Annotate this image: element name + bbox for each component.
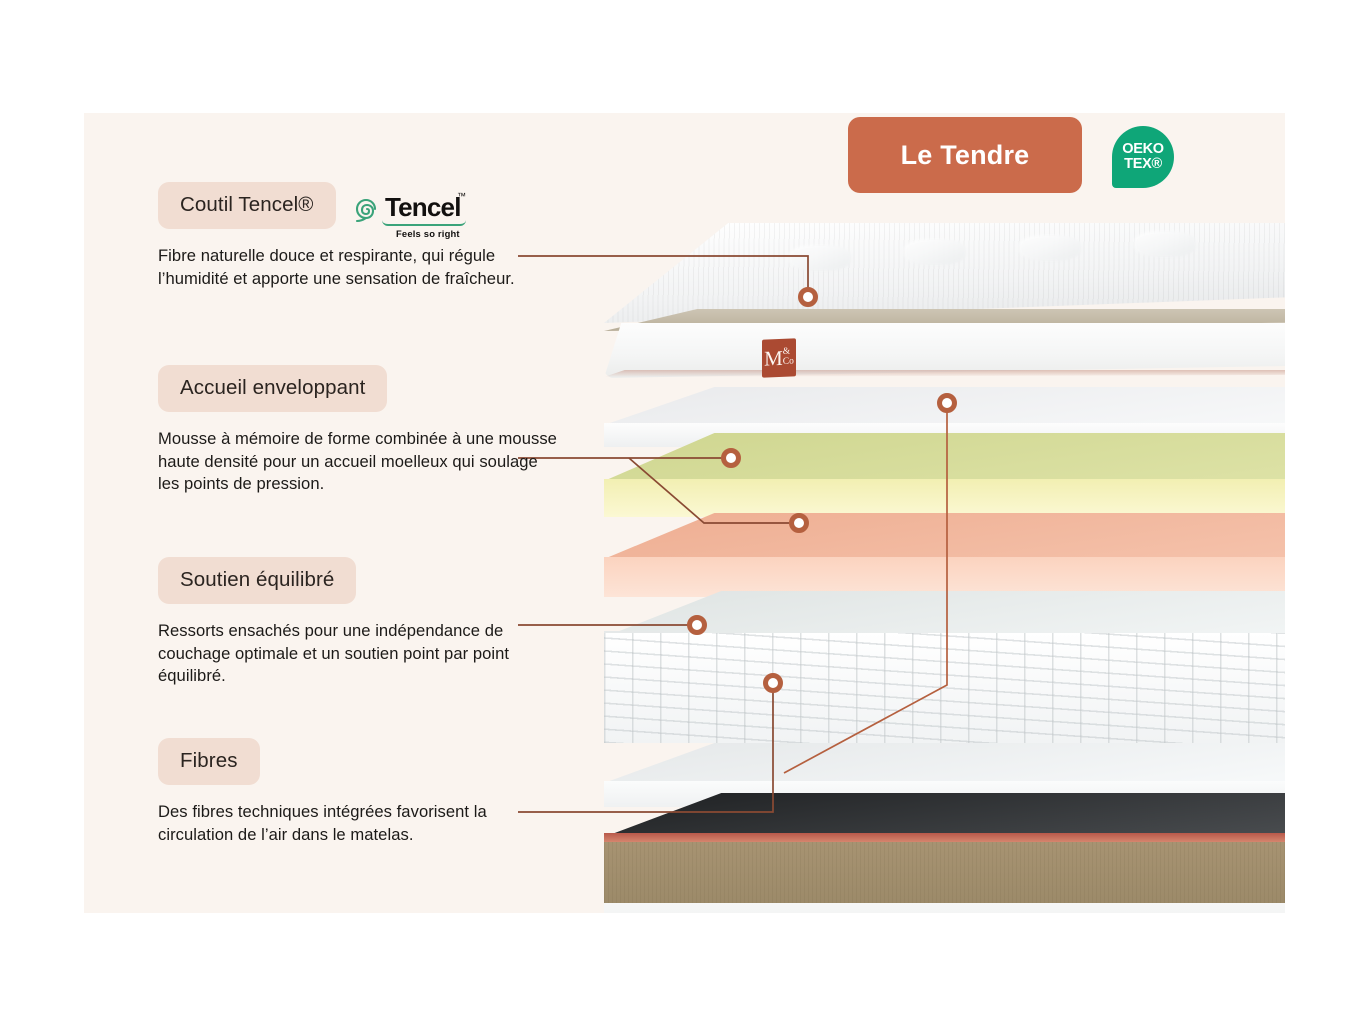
- oeko-tex-certification-badge: OEKO TEX®: [1112, 126, 1174, 188]
- base-fibre-band: [604, 842, 1285, 904]
- cover-side-accent: [604, 370, 1285, 377]
- quilt-dimple: [789, 245, 851, 271]
- quilt-dimple: [1019, 235, 1081, 261]
- spring-top-surface: [604, 591, 1285, 637]
- layer-pocket-springs: [604, 591, 1285, 749]
- pocket-spring-coils: [604, 633, 1285, 743]
- brand-tag-letter: M: [764, 347, 783, 369]
- layer-fibre-base: [604, 793, 1285, 913]
- infographic-panel: Le Tendre OEKO TEX® Tencel ™ Feels so ri…: [84, 113, 1285, 913]
- feature-callout-accueil: Accueil enveloppant Mousse à mémoire de …: [158, 365, 558, 496]
- feature-description-fibres: Des fibres techniques intégrées favorise…: [158, 801, 558, 846]
- feature-callout-fibres: Fibres Des fibres techniques intégrées f…: [158, 738, 558, 846]
- quilt-dimple: [904, 239, 966, 265]
- feature-label-coutil: Coutil Tencel®: [158, 182, 336, 229]
- feature-label-accueil: Accueil enveloppant: [158, 365, 387, 412]
- base-bottom-panel: [604, 903, 1285, 913]
- feature-callout-coutil: Coutil Tencel® Fibre naturelle douce et …: [158, 182, 558, 290]
- brand-label-tag: M & Co: [762, 338, 796, 377]
- brand-tag-co: Co: [783, 356, 794, 366]
- foam-top-surface: [604, 513, 1285, 559]
- product-title: Le Tendre: [901, 140, 1030, 171]
- oeko-tex-line2: TEX®: [1124, 157, 1162, 172]
- quilt-dimple: [1134, 231, 1196, 257]
- feature-description-accueil: Mousse à mémoire de forme combinée à une…: [158, 428, 558, 496]
- feature-callout-soutien: Soutien équilibré Ressorts ensachés pour…: [158, 557, 558, 688]
- cover-side-panel: [604, 323, 1285, 378]
- base-top-surface: [604, 793, 1285, 837]
- foam-top-surface: [604, 387, 1285, 425]
- feature-label-fibres: Fibres: [158, 738, 260, 785]
- product-title-badge: Le Tendre: [848, 117, 1082, 193]
- feature-description-coutil: Fibre naturelle douce et respirante, qui…: [158, 245, 558, 290]
- feature-description-soutien: Ressorts ensachés pour une indépendance …: [158, 620, 558, 688]
- layer-memory-foam: [604, 433, 1285, 519]
- feature-label-soutien: Soutien équilibré: [158, 557, 356, 604]
- mattress-layer-diagram: M & Co: [604, 223, 1285, 863]
- oeko-tex-line1: OEKO: [1122, 142, 1164, 157]
- foam-top-surface: [604, 433, 1285, 481]
- foam-top-surface: [604, 743, 1285, 783]
- foam-front-face: [604, 479, 1285, 517]
- layer-high-density-foam: [604, 513, 1285, 599]
- layer-coutil-tencel-quilted-cover: M & Co: [604, 223, 1285, 383]
